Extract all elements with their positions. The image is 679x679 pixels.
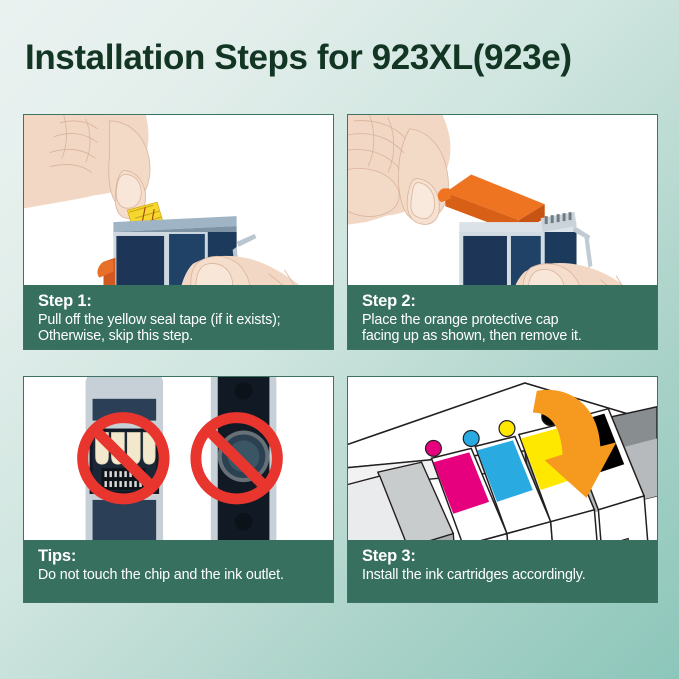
caption-line-2: Otherwise, skip this step. bbox=[38, 328, 319, 344]
caption-line-1: Install the ink cartridges accordingly. bbox=[362, 567, 643, 583]
caption-step1: Step 1: Pull off the yellow seal tape (i… bbox=[24, 285, 333, 349]
panel-tips: Tips: Do not touch the chip and the ink … bbox=[23, 376, 334, 603]
caption-step2: Step 2: Place the orange protective cap … bbox=[348, 285, 657, 349]
caption-title-step3: Step 3: bbox=[362, 547, 643, 566]
caption-title-step1: Step 1: bbox=[38, 292, 319, 311]
hand-upper bbox=[348, 115, 450, 226]
panel-step2: Step 2: Place the orange protective cap … bbox=[347, 114, 658, 350]
page-title: Installation Steps for 923XL(923e) bbox=[25, 38, 665, 90]
caption-line-1: Do not touch the chip and the ink outlet… bbox=[38, 567, 319, 583]
panel-step1: Step 1: Pull off the yellow seal tape (i… bbox=[23, 114, 334, 350]
cartridge-chip-view bbox=[86, 377, 163, 557]
caption-title-tips: Tips: bbox=[38, 547, 319, 566]
caption-line-1: Place the orange protective cap bbox=[362, 312, 643, 328]
panel-step3: Step 3: Install the ink cartridges accor… bbox=[347, 376, 658, 603]
caption-line-2: facing up as shown, then remove it. bbox=[362, 328, 643, 344]
caption-line-1: Pull off the yellow seal tape (if it exi… bbox=[38, 312, 319, 328]
caption-step3: Step 3: Install the ink cartridges accor… bbox=[348, 540, 657, 602]
caption-tips: Tips: Do not touch the chip and the ink … bbox=[24, 540, 333, 602]
caption-title-step2: Step 2: bbox=[362, 292, 643, 311]
